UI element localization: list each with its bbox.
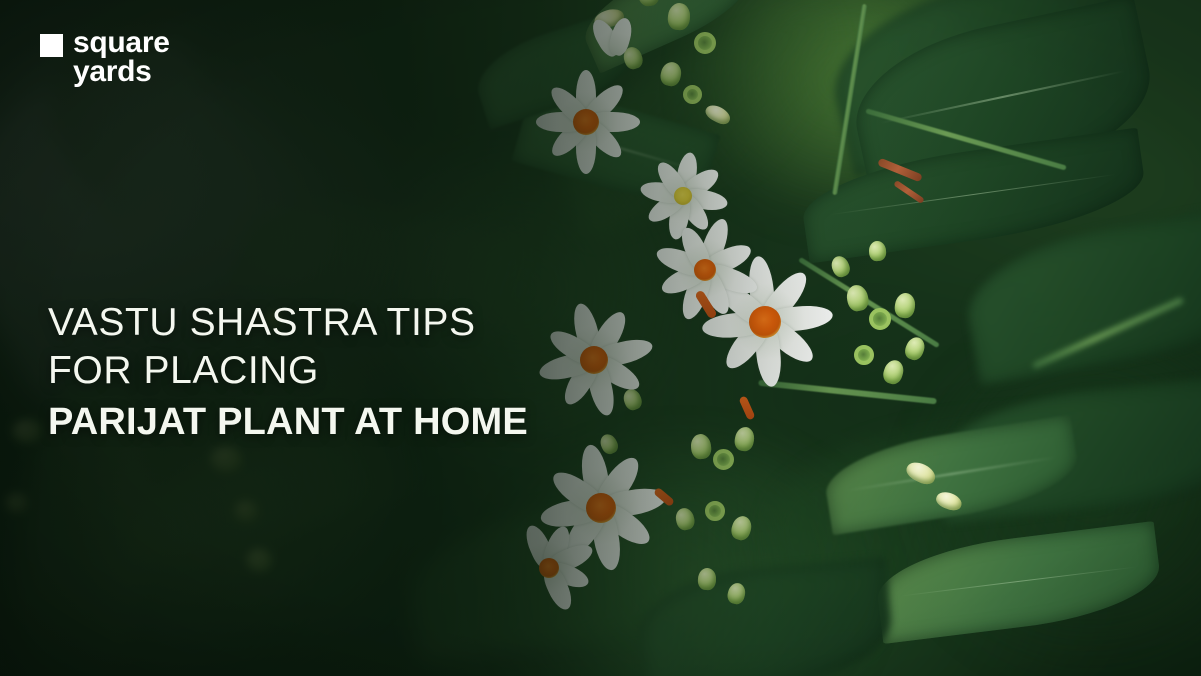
banner-headline: VASTU SHASTRA TIPS FOR PLACING PARIJAT P… (48, 299, 528, 447)
banner-content: square yards VASTU SHASTRA TIPS FOR PLAC… (0, 0, 1201, 676)
article-banner: square yards VASTU SHASTRA TIPS FOR PLAC… (0, 0, 1201, 676)
headline-line-2: FOR PLACING (48, 347, 528, 395)
logo-wordmark: square yards (73, 28, 170, 87)
logo-line-yards: yards (73, 57, 170, 86)
headline-line-1: VASTU SHASTRA TIPS (48, 299, 528, 347)
headline-line-3: PARIJAT PLANT AT HOME (48, 397, 528, 447)
logo-line-square: square (73, 28, 170, 57)
square-mark-icon (40, 34, 63, 57)
square-yards-logo[interactable]: square yards (40, 28, 170, 87)
